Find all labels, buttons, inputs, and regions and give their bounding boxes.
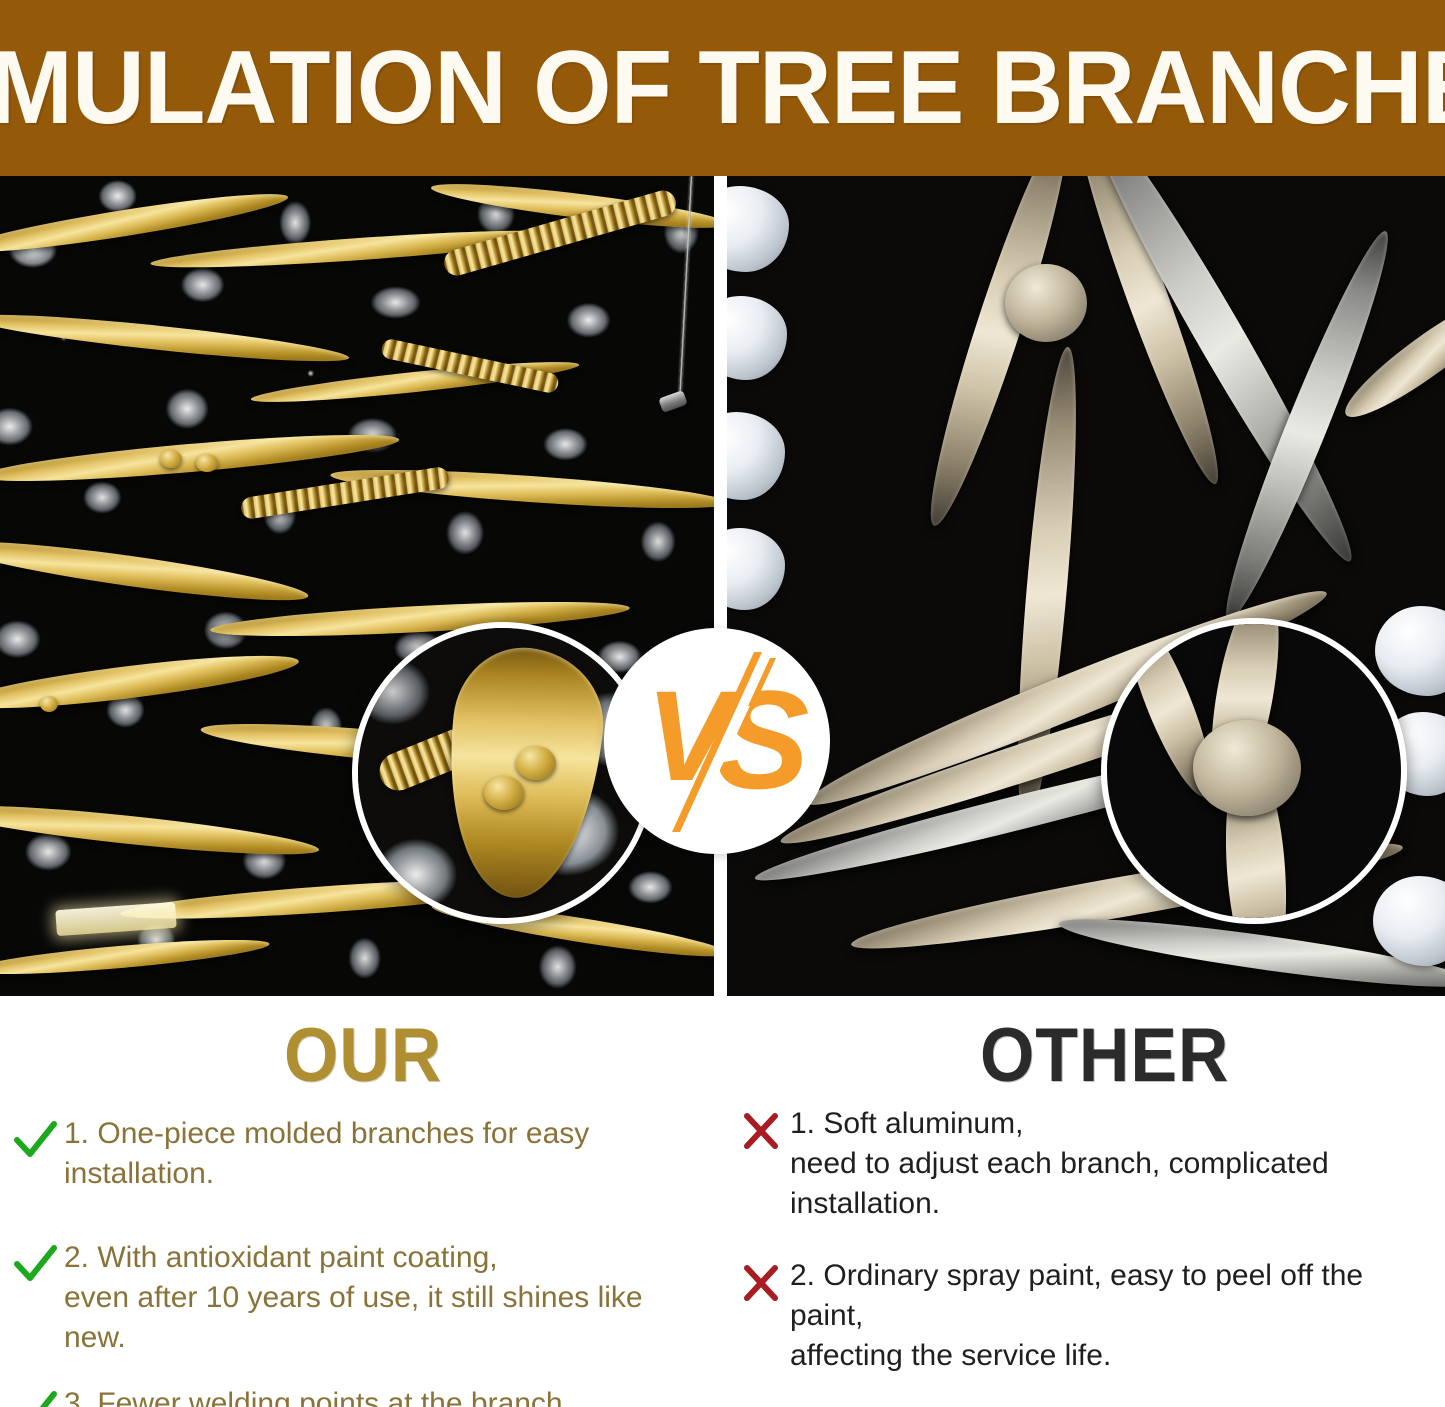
our-advantages-list: 1. One-piece molded branches for easy in…	[12, 1114, 712, 1407]
cross-icon	[738, 1260, 784, 1304]
column-heading-other: OTHER	[980, 1018, 1229, 1094]
vs-badge: V S	[604, 628, 830, 854]
list-item-text: 2. With antioxidant paint coating, even …	[64, 1238, 712, 1358]
comparison-infographic: SIMULATION OF TREE BRANCHES	[0, 0, 1445, 1407]
photo-comparison-row: V S	[0, 176, 1445, 996]
list-item: 2. Ordinary spray paint, easy to peel of…	[738, 1256, 1438, 1376]
list-item-text: 2. Ordinary spray paint, easy to peel of…	[790, 1256, 1438, 1376]
photo-our-product	[0, 176, 714, 996]
cross-icon	[738, 1108, 784, 1152]
list-item: 1. One-piece molded branches for easy in…	[12, 1114, 712, 1194]
screw-head	[160, 450, 182, 468]
header-banner: SIMULATION OF TREE BRANCHES	[0, 0, 1445, 176]
branch-nub	[40, 696, 58, 712]
magnified-screw-head	[484, 776, 524, 810]
column-heading-our: OUR	[284, 1018, 442, 1094]
check-icon	[12, 1242, 58, 1286]
screw-head	[196, 454, 218, 472]
other-disadvantages-list: 1. Soft aluminum, need to adjust each br…	[738, 1104, 1438, 1407]
list-item-text: 3. Fewer welding points at the branch ch…	[64, 1384, 563, 1407]
page-title: SIMULATION OF TREE BRANCHES	[0, 36, 1445, 140]
list-item: 2. With antioxidant paint coating, even …	[12, 1238, 712, 1358]
comparison-text-panel: OUR OTHER 1. One-piece molded branches f…	[0, 996, 1445, 1407]
list-item-text: 1. Soft aluminum, need to adjust each br…	[790, 1104, 1438, 1224]
check-icon	[12, 1388, 58, 1407]
magnified-screw-head	[516, 746, 556, 780]
magnified-welded-joint	[1193, 720, 1301, 816]
photo-other-product	[727, 176, 1445, 996]
list-item-text: 1. One-piece molded branches for easy in…	[64, 1114, 712, 1194]
list-item: 3. Fewer welding points at the branch ch…	[12, 1384, 712, 1407]
vs-icon: V S	[604, 628, 830, 854]
list-item: 1. Soft aluminum, need to adjust each br…	[738, 1104, 1438, 1224]
check-icon	[12, 1118, 58, 1162]
magnifier-other-detail	[1101, 618, 1407, 924]
welded-joint	[1005, 264, 1087, 342]
